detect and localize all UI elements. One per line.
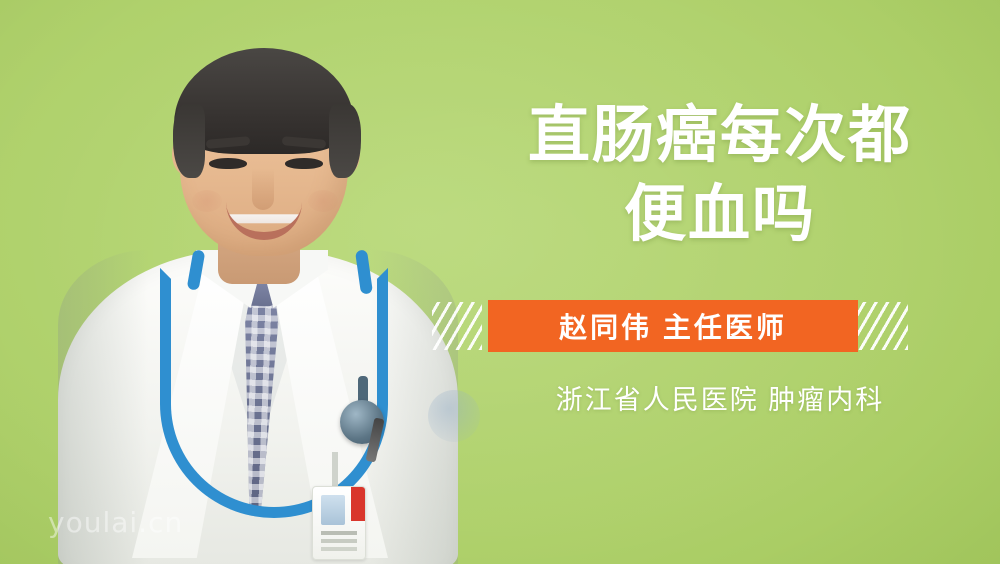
doctor-portrait — [40, 0, 470, 564]
hatch-decoration-left — [432, 302, 482, 350]
page-title: 直肠癌每次都 便血吗 — [470, 96, 970, 255]
cheek-right — [308, 190, 338, 212]
cheek-left — [192, 190, 222, 212]
id-badge — [312, 486, 366, 560]
title-line-2: 便血吗 — [470, 175, 970, 254]
presenter-name-band: 赵同伟 主任医师 — [488, 300, 858, 352]
hatch-decoration-right — [858, 302, 908, 350]
stethoscope-tube — [160, 268, 388, 518]
badge-red-stripe — [351, 487, 365, 521]
presenter-affiliation: 浙江省人民医院 肿瘤内科 — [470, 378, 970, 417]
video-thumbnail: 直肠癌每次都 便血吗 赵同伟 主任医师 浙江省人民医院 肿瘤内科 youlai.… — [0, 0, 1000, 564]
badge-clip — [332, 452, 338, 490]
presenter-name-text: 赵同伟 主任医师 — [559, 306, 787, 346]
badge-text-lines — [321, 531, 357, 535]
title-line-1: 直肠癌每次都 — [470, 96, 970, 175]
presenter-name-band-wrapper: 赵同伟 主任医师 — [470, 300, 970, 352]
watermark: youlai.cn — [48, 506, 183, 539]
hair-side-right — [329, 104, 361, 178]
eye-right — [285, 158, 323, 169]
badge-photo — [321, 495, 345, 525]
hair-side-left — [173, 104, 205, 178]
eye-left — [209, 158, 247, 169]
